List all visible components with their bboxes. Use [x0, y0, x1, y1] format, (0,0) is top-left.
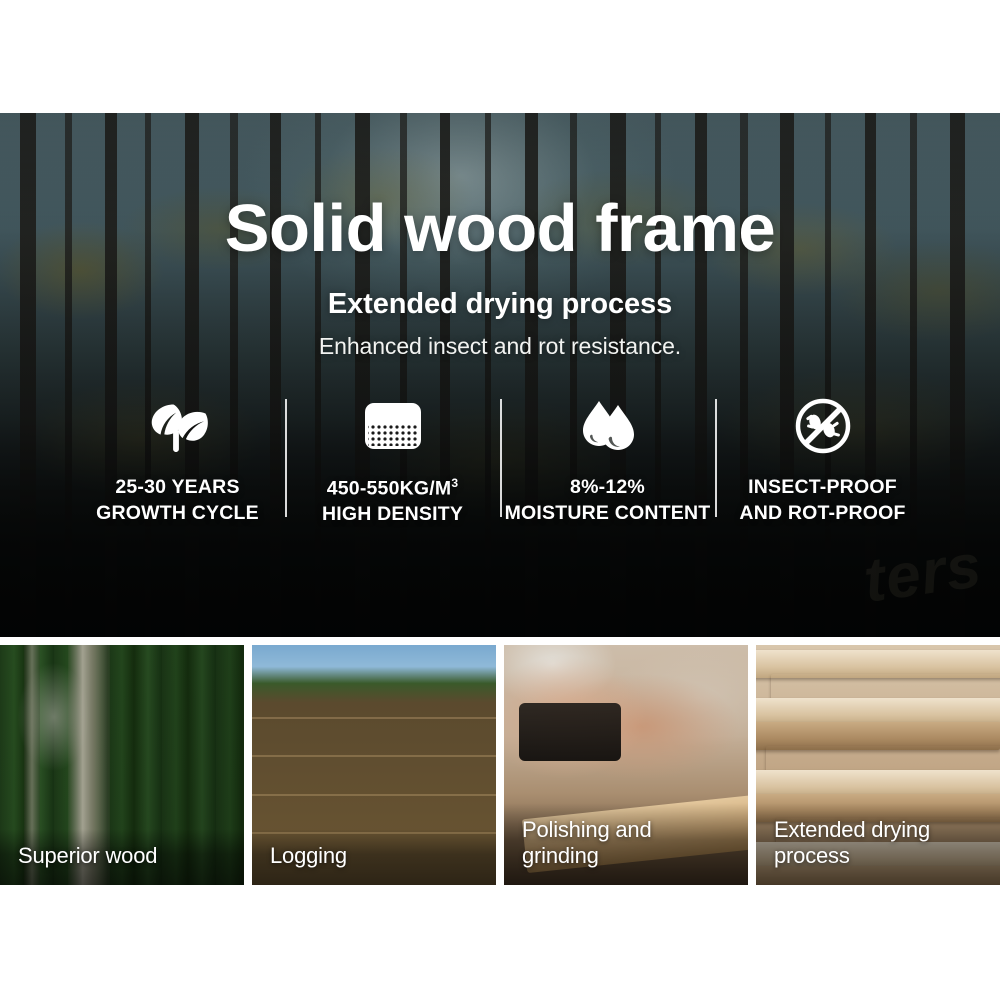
feature-label: INSECT-PROOF AND ROT-PROOF — [739, 475, 905, 527]
feature-high-density: 450-550KG/M3 HIGH DENSITY — [285, 395, 500, 528]
gallery-caption: Logging — [252, 829, 496, 885]
feature-line-1: 8%-12% — [570, 476, 645, 498]
gallery-caption: Polishing and grinding — [504, 803, 748, 885]
water-droplets-icon — [577, 395, 639, 457]
feature-line-1-superscript: 3 — [451, 476, 458, 490]
density-block-icon — [364, 395, 422, 457]
hero-tagline: Enhanced insect and rot resistance. — [319, 333, 681, 360]
feature-label: 25-30 YEARS GROWTH CYCLE — [96, 475, 259, 527]
feature-line-1: 25-30 YEARS — [115, 476, 239, 498]
feature-label: 450-550KG/M3 HIGH DENSITY — [322, 475, 463, 528]
feature-line-1: 450-550KG/M — [327, 478, 452, 500]
hero-banner: ters Solid wood frame Extended drying pr… — [0, 113, 1000, 637]
feature-label: 8%-12% MOISTURE CONTENT — [505, 475, 711, 527]
feature-growth-cycle: 25-30 YEARS GROWTH CYCLE — [70, 395, 285, 527]
no-insect-icon — [795, 395, 851, 457]
gallery-card-drying[interactable]: Extended drying process — [756, 645, 1000, 885]
feature-line-2: AND ROT-PROOF — [739, 501, 905, 527]
gallery-caption: Extended drying process — [756, 803, 1000, 885]
process-gallery-strip: Superior wood Logging Polishing and grin… — [0, 645, 1000, 885]
hero-subtitle: Extended drying process — [328, 288, 672, 321]
feature-line-2: MOISTURE CONTENT — [505, 501, 711, 527]
leaf-sprout-icon — [147, 395, 209, 457]
gallery-card-polishing[interactable]: Polishing and grinding — [504, 645, 748, 885]
gallery-caption: Superior wood — [0, 829, 244, 885]
feature-insect-proof: INSECT-PROOF AND ROT-PROOF — [715, 395, 930, 527]
feature-line-2: HIGH DENSITY — [322, 502, 463, 528]
product-infographic-page: ters Solid wood frame Extended drying pr… — [0, 0, 1000, 1000]
gallery-card-logging[interactable]: Logging — [252, 645, 496, 885]
feature-moisture-content: 8%-12% MOISTURE CONTENT — [500, 395, 715, 527]
hero-content: Solid wood frame Extended drying process… — [0, 113, 1000, 637]
feature-line-1: INSECT-PROOF — [748, 476, 897, 498]
gallery-card-superior-wood[interactable]: Superior wood — [0, 645, 244, 885]
hero-title: Solid wood frame — [225, 195, 775, 262]
feature-row: 25-30 YEARS GROWTH CYCLE — [0, 395, 1000, 528]
feature-line-2: GROWTH CYCLE — [96, 501, 259, 527]
